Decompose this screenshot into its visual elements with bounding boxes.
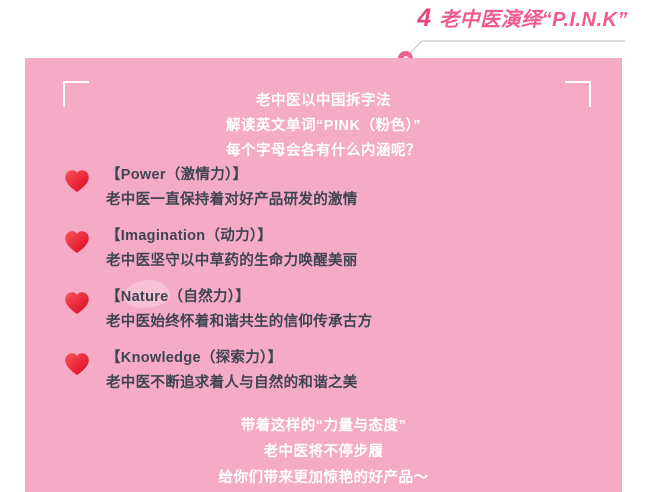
list-item-title: 【Power（激情力）】 — [106, 163, 598, 187]
section-heading: 4 老中医演绎“P.I.N.K” — [417, 6, 628, 31]
list-item-title: 【Knowledge（探索力）】 — [106, 346, 598, 370]
pink-acronym-list: 【Power（激情力）】 老中医一直保持着对好产品研发的激情 【Imaginat… — [58, 163, 598, 407]
intro-line: 老中医以中国拆字法 — [25, 89, 622, 114]
heart-icon — [64, 352, 90, 376]
list-item-description: 老中医不断追求着人与自然的和谐之美 — [106, 370, 598, 396]
list-item-title: 【Nature（自然力）】 — [106, 285, 598, 309]
list-item: 【Imagination（动力）】 老中医坚守以中草药的生命力唤醒美丽 — [58, 224, 598, 284]
closing-block: 带着这样的“力量与态度” 老中医将不停步履 给你们带来更加惊艳的好产品～ — [25, 413, 622, 491]
section-number: 4 — [417, 6, 431, 31]
list-item-description: 老中医始终怀着和谐共生的信仰传承古方 — [106, 309, 598, 335]
content-panel: 老中医以中国拆字法 解读英文单词“PINK（粉色）” 每个字母会各有什么内涵呢？ — [25, 58, 622, 492]
list-item-description: 老中医一直保持着对好产品研发的激情 — [106, 187, 598, 213]
heart-icon — [64, 230, 90, 254]
list-item: 【Knowledge（探索力）】 老中医不断追求着人与自然的和谐之美 — [58, 346, 598, 406]
intro-line: 每个字母会各有什么内涵呢？ — [25, 139, 622, 164]
page-root: 4 老中医演绎“P.I.N.K” 老中医以中国拆字法 解读英文单词“PINK（粉… — [0, 0, 650, 492]
section-title: 老中医演绎“P.I.N.K” — [439, 10, 628, 30]
intro-block: 老中医以中国拆字法 解读英文单词“PINK（粉色）” 每个字母会各有什么内涵呢？ — [25, 89, 622, 164]
list-item-title: 【Imagination（动力）】 — [106, 224, 598, 248]
intro-line: 解读英文单词“PINK（粉色）” — [25, 114, 622, 139]
list-item-description: 老中医坚守以中草药的生命力唤醒美丽 — [106, 248, 598, 274]
closing-line: 给你们带来更加惊艳的好产品～ — [25, 465, 622, 491]
heart-icon — [64, 291, 90, 315]
list-item: 【Nature（自然力）】 老中医始终怀着和谐共生的信仰传承古方 — [58, 285, 598, 345]
closing-line: 老中医将不停步履 — [25, 439, 622, 465]
list-item: 【Power（激情力）】 老中医一直保持着对好产品研发的激情 — [58, 163, 598, 223]
closing-line: 带着这样的“力量与态度” — [25, 413, 622, 439]
heart-icon — [64, 169, 90, 193]
